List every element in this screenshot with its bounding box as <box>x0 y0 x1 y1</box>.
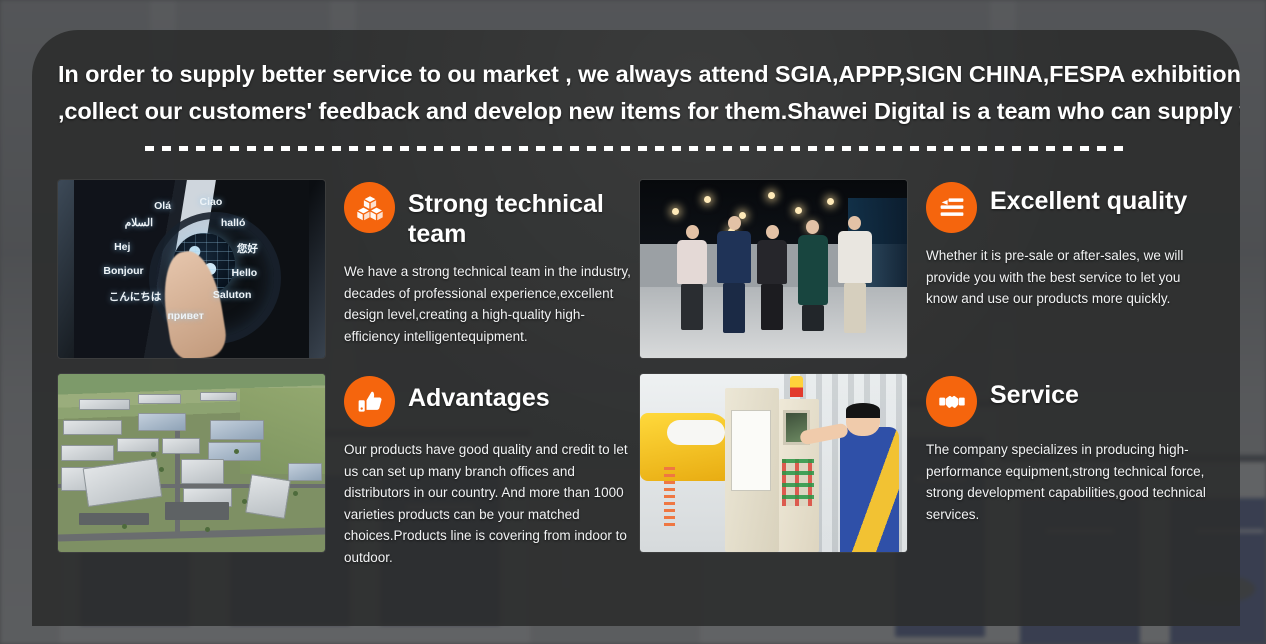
headline-line-2: ,collect our customers' feedback and dev… <box>58 93 1214 130</box>
greeting-text: Bonjour <box>103 265 143 277</box>
greeting-text: السلام <box>125 217 153 229</box>
feature-card-excellent-quality: Excellent quality Whether it is pre-sale… <box>640 180 1214 358</box>
feature-image-strong-technical-team: Olá Ciao السلام halló Hej 您好 Bonjour Hel… <box>58 180 325 358</box>
feature-image-service <box>640 374 907 552</box>
feature-card-advantages: Advantages Our products have good qualit… <box>58 374 632 568</box>
handshake-icon <box>926 376 977 427</box>
boxes-icon <box>344 182 395 233</box>
feature-title: Strong technical team <box>408 182 632 249</box>
greeting-text: Olá <box>154 200 171 212</box>
feature-cards-grid: Olá Ciao السلام halló Hej 您好 Bonjour Hel… <box>32 180 1240 568</box>
feature-description: The company specializes in producing hig… <box>926 439 1214 525</box>
feature-title: Service <box>990 376 1079 410</box>
greeting-text: привет <box>167 310 203 322</box>
list-arrow-icon <box>926 182 977 233</box>
dashed-divider <box>145 146 1125 151</box>
feature-title: Advantages <box>408 376 550 413</box>
greeting-text: Hej <box>114 241 130 253</box>
feature-image-excellent-quality <box>640 180 907 358</box>
feature-description: Whether it is pre-sale or after-sales, w… <box>926 245 1214 310</box>
feature-card-strong-technical-team: Olá Ciao السلام halló Hej 您好 Bonjour Hel… <box>58 180 632 358</box>
feature-image-advantages <box>58 374 325 552</box>
greeting-text: 您好 <box>237 241 258 256</box>
feature-title: Excellent quality <box>990 182 1187 216</box>
greeting-text: Saluton <box>213 289 252 301</box>
feature-card-service: Service The company specializes in produ… <box>640 374 1214 568</box>
page-headline: In order to supply better service to ou … <box>58 56 1214 130</box>
feature-description: Our products have good quality and credi… <box>344 439 632 568</box>
greeting-text: こんにちは <box>109 289 162 304</box>
thumbs-up-icon <box>344 376 395 427</box>
greeting-text: Ciao <box>200 196 223 208</box>
greeting-text: halló <box>221 217 246 229</box>
headline-line-1: In order to supply better service to ou … <box>58 56 1214 93</box>
greeting-text: Hello <box>232 267 258 279</box>
content-panel: In order to supply better service to ou … <box>32 30 1240 626</box>
feature-description: We have a strong technical team in the i… <box>344 261 632 347</box>
